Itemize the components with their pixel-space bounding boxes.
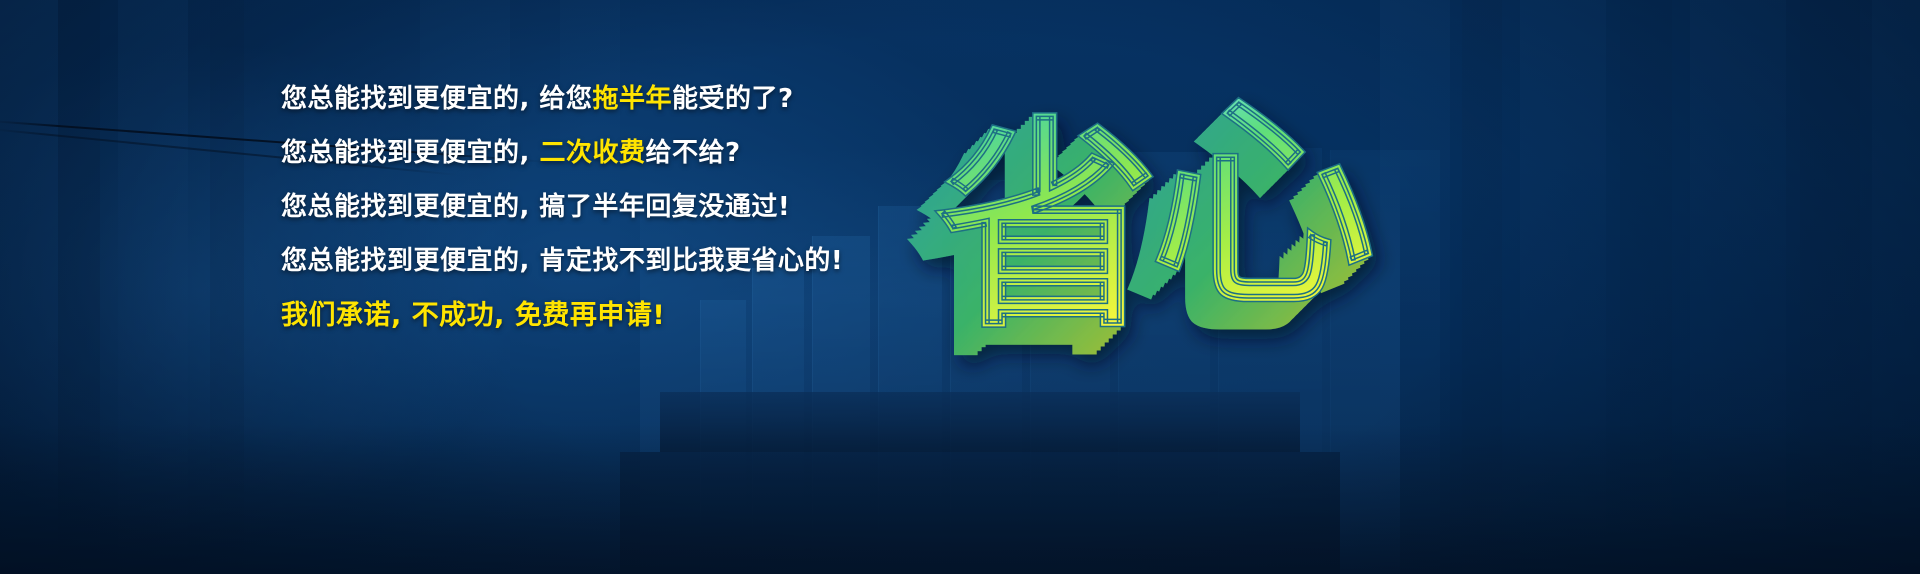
copy-line-1-after: 能受的了? bbox=[672, 84, 794, 114]
copy-line-4-text: 您总能找到更便宜的, 肯定找不到比我更省心的! bbox=[281, 246, 843, 276]
copy-line-1-highlight: 拖半年 bbox=[592, 84, 672, 114]
copy-line-3-text: 您总能找到更便宜的, 搞了半年回复没通过! bbox=[281, 192, 790, 222]
marketing-copy: 您总能找到更便宜的, 给您拖半年能受的了? 您总能找到更便宜的, 二次收费给不给… bbox=[281, 86, 901, 329]
copy-line-4: 您总能找到更便宜的, 肯定找不到比我更省心的! bbox=[281, 248, 901, 274]
copy-line-3: 您总能找到更便宜的, 搞了半年回复没通过! bbox=[281, 194, 901, 220]
hero-wordmark: 省 省 省 省 省 省 省 省 心 心 心 心 心 心 心 bbox=[900, 62, 1380, 392]
hero-char-2-face: 心 bbox=[1150, 75, 1376, 338]
copy-line-1-before: 您总能找到更便宜的, 给您 bbox=[281, 84, 592, 114]
copy-promise-line: 我们承诺, 不成功, 免费再申请! bbox=[281, 302, 901, 329]
copy-line-2-before: 您总能找到更便宜的, bbox=[281, 138, 539, 168]
promo-banner: 您总能找到更便宜的, 给您拖半年能受的了? 您总能找到更便宜的, 二次收费给不给… bbox=[0, 0, 1920, 574]
copy-line-1: 您总能找到更便宜的, 给您拖半年能受的了? bbox=[281, 86, 901, 112]
copy-line-2: 您总能找到更便宜的, 二次收费给不给? bbox=[281, 140, 901, 166]
copy-line-2-after: 给不给? bbox=[645, 138, 740, 168]
copy-line-2-highlight: 二次收费 bbox=[539, 138, 645, 168]
